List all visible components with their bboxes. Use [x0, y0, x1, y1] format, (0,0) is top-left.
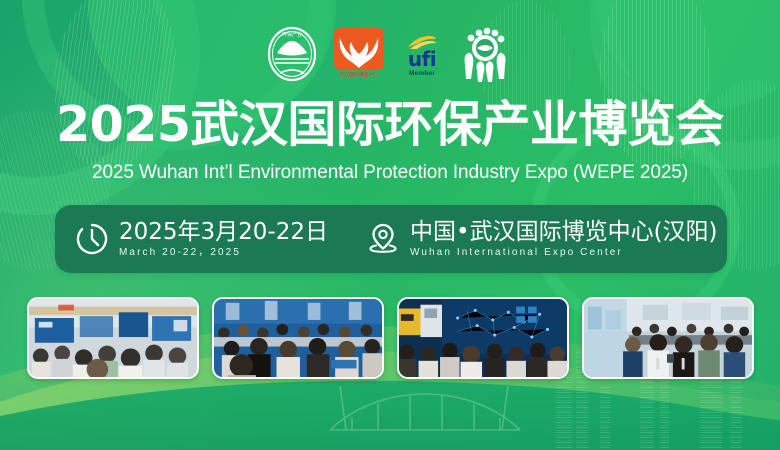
photo-exhibition-hall-crowd[interactable] [27, 297, 199, 379]
event-info-bar: 2025年3月20-22日 March 20-22，2025 中国•武汉国际博览… [55, 205, 727, 273]
expo-association-emblem-logo [457, 24, 513, 89]
event-venue-cn: 中国•武汉国际博览中心(汉阳) [410, 219, 718, 246]
banner-title-cn: 2025武汉国际环保产业博览会 [0, 97, 780, 153]
wuhan-expo-emblem-logo: 武汉国际博览中心 [331, 28, 387, 84]
event-date-cn: 2025年3月20-22日 [119, 219, 328, 246]
china-environment-emblem-logo: 环保产业 [267, 26, 317, 87]
expo-banner: 环保产业 武汉国际博览中心 ufi Member [0, 0, 780, 450]
clock-icon [75, 222, 109, 256]
svg-text:环保产业: 环保产业 [282, 31, 302, 38]
ufi-member-label: Member [409, 70, 435, 77]
banner-title-en: 2025 Wuhan Int’l Environmental Protectio… [0, 161, 780, 185]
ufi-wordmark: ufi [408, 50, 436, 69]
location-pin-icon [366, 222, 400, 256]
photo-strip [0, 297, 780, 383]
sponsor-logo-row: 环保产业 武汉国际博览中心 ufi Member [0, 24, 780, 88]
event-venue-block: 中国•武汉国际博览中心(汉阳) Wuhan International Expo… [328, 205, 718, 273]
photo-tech-display-wall[interactable] [397, 297, 569, 379]
photo-conference-audience[interactable] [212, 297, 384, 379]
event-date-block: 2025年3月20-22日 March 20-22，2025 [55, 205, 328, 273]
photo-visitors-walking[interactable] [582, 297, 754, 379]
wuhan-emblem-caption: 武汉国际博览中心 [340, 72, 378, 78]
ufi-member-logo: ufi Member [401, 28, 443, 84]
event-date-en: March 20-22，2025 [119, 246, 328, 260]
event-venue-en: Wuhan International Expo Center [410, 246, 718, 260]
wuhan-emblem-square [334, 28, 384, 70]
